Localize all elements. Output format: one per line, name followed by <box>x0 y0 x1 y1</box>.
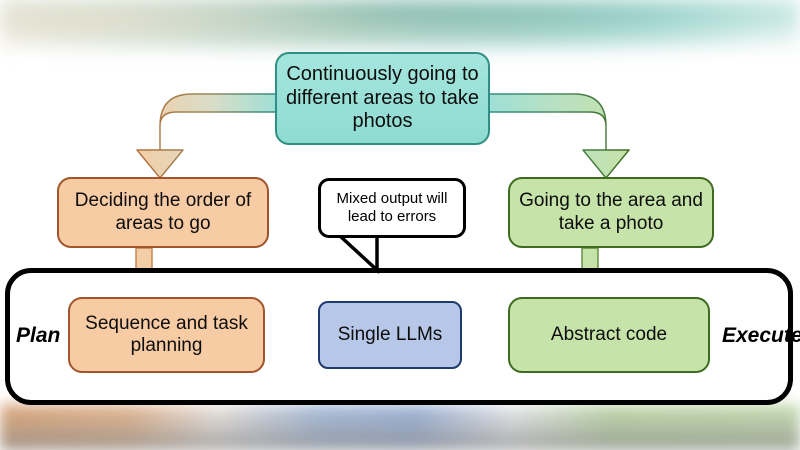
box-deciding-order-label: Deciding the order of areas to go <box>59 190 267 235</box>
callout-tail <box>340 236 377 270</box>
box-abstract-code-label: Abstract code <box>551 324 667 346</box>
box-continuous-task[interactable]: Continuously going to different areas to… <box>275 52 490 145</box>
box-abstract-code[interactable]: Abstract code <box>508 297 710 373</box>
callout-mixed-output-label: Mixed output will lead to errors <box>321 190 463 226</box>
box-sequence-planning[interactable]: Sequence and task planning <box>68 297 265 373</box>
box-going-area[interactable]: Going to the area and take a photo <box>508 177 714 248</box>
box-continuous-task-label: Continuously going to different areas to… <box>277 63 488 134</box>
frame-label-plan: Plan <box>16 324 60 348</box>
box-single-llms[interactable]: Single LLMs <box>318 301 462 369</box>
callout-mixed-output[interactable]: Mixed output will lead to errors <box>318 178 466 238</box>
diagram-canvas: Continuously going to different areas to… <box>0 0 800 450</box>
frame-label-execute: Execute <box>722 324 800 348</box>
box-going-area-label: Going to the area and take a photo <box>510 190 712 235</box>
box-sequence-planning-label: Sequence and task planning <box>70 313 263 358</box>
box-single-llms-label: Single LLMs <box>338 324 443 346</box>
box-deciding-order[interactable]: Deciding the order of areas to go <box>57 177 269 248</box>
